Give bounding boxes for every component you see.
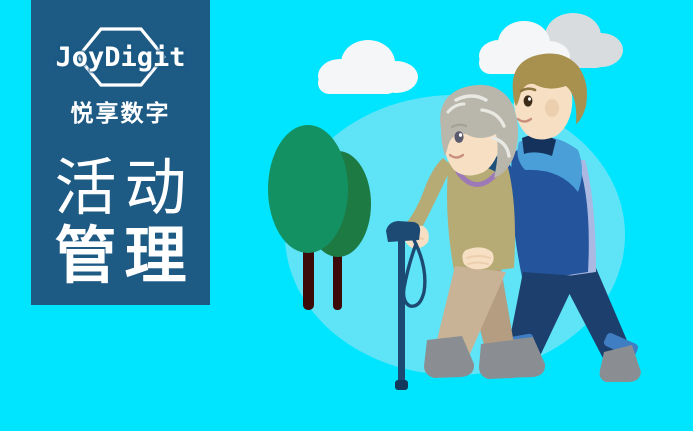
page-title-line-2: 管理 bbox=[46, 222, 194, 290]
man-eye-highlight bbox=[528, 97, 531, 101]
woman-eye bbox=[454, 131, 463, 143]
cane-tip bbox=[395, 380, 408, 390]
title-panel: JoyDigit 悦享数字 活动 管理 bbox=[31, 0, 210, 305]
poster-canvas: JoyDigit 悦享数字 活动 管理 bbox=[0, 0, 693, 431]
man-eye bbox=[524, 95, 533, 106]
page-title-line-1: 活动 bbox=[46, 154, 194, 222]
woman-eye-highlight bbox=[459, 133, 462, 137]
page-title: 活动 管理 bbox=[46, 154, 194, 290]
logo-wordmark: JoyDigit bbox=[55, 44, 185, 71]
man-ear bbox=[545, 99, 559, 117]
cane-shaft bbox=[398, 238, 405, 386]
logo-chinese-name: 悦享数字 bbox=[71, 94, 171, 128]
brand-logo: JoyDigit bbox=[51, 26, 191, 88]
